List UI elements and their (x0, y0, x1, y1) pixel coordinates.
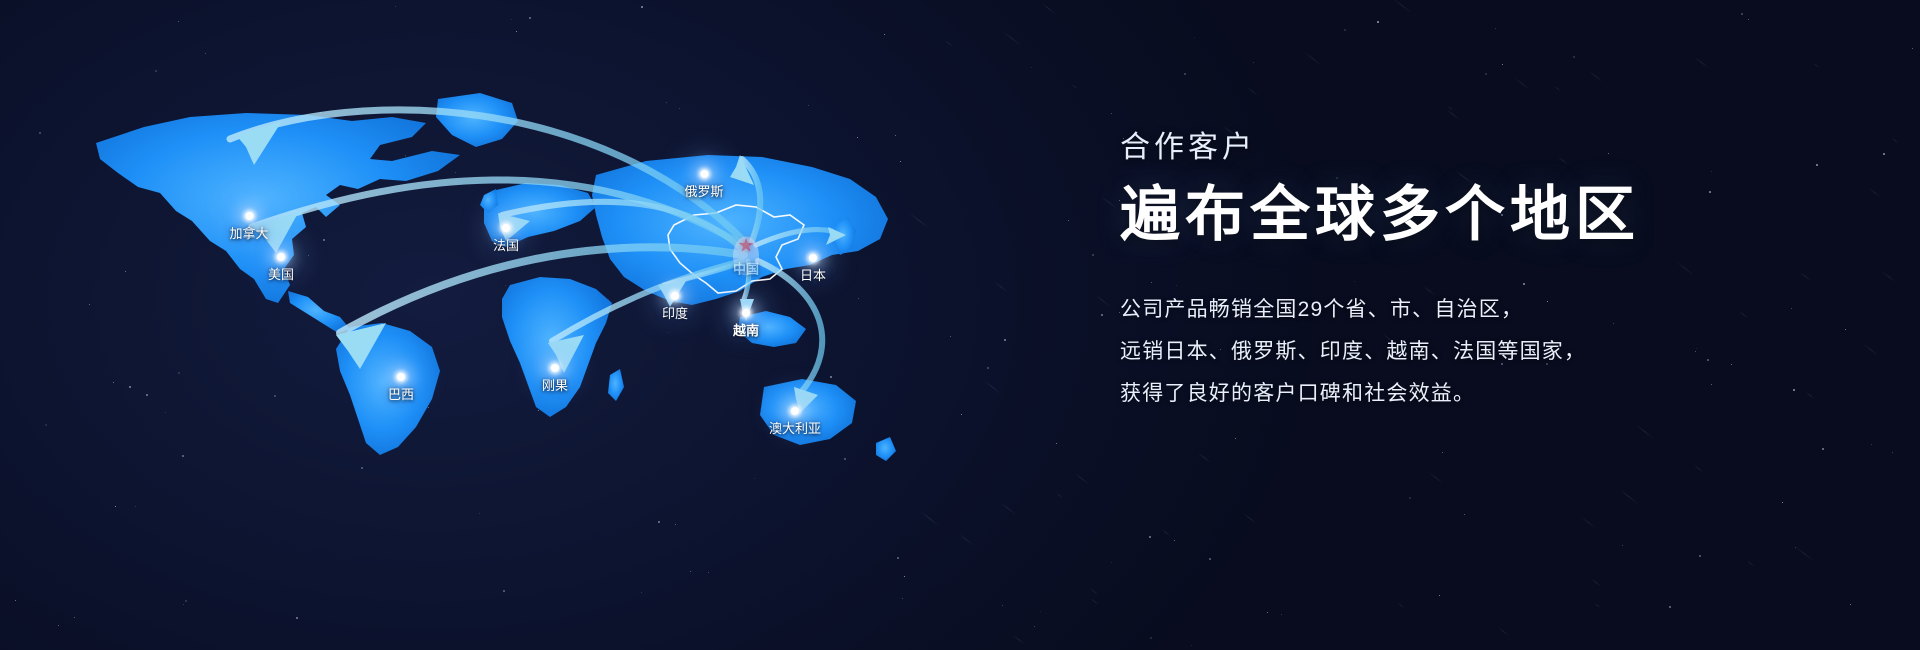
landmass-group (96, 93, 896, 461)
star-speck (1782, 502, 1783, 503)
light-streak (959, 534, 974, 546)
star-speck (15, 600, 16, 601)
star-speck (1495, 28, 1496, 29)
star-speck (74, 617, 75, 618)
light-streak (1794, 546, 1814, 562)
star-speck (1850, 604, 1851, 605)
star-speck (503, 590, 505, 592)
star-speck (1439, 595, 1440, 596)
light-streak (1041, 3, 1055, 14)
star-speck (1892, 452, 1893, 453)
star-speck (1101, 314, 1103, 316)
star-speck (205, 53, 206, 54)
star-speck (1191, 645, 1192, 646)
star-speck (1464, 514, 1465, 515)
star-speck (1149, 536, 1151, 538)
light-streak (984, 380, 1002, 394)
light-streak (1095, 294, 1111, 306)
star-speck (1485, 73, 1487, 75)
star-speck (479, 513, 480, 514)
star-speck (296, 617, 298, 619)
light-streak (1581, 517, 1595, 528)
light-streak (1446, 109, 1459, 120)
star-speck (58, 625, 59, 626)
light-streak (1071, 84, 1077, 89)
world-map-svg (40, 55, 940, 485)
light-streak (1304, 52, 1321, 66)
star-speck (529, 17, 531, 19)
light-streak (1162, 529, 1170, 536)
star-speck (185, 600, 187, 602)
light-streak (1747, 560, 1755, 566)
star-speck (641, 592, 642, 593)
light-streak (920, 511, 939, 526)
star-speck (641, 6, 643, 8)
light-streak (1428, 471, 1444, 483)
light-streak (1594, 603, 1600, 608)
star-speck (135, 506, 136, 507)
star-speck (708, 572, 709, 573)
light-streak (993, 281, 1007, 292)
star-speck (1194, 37, 1195, 38)
star-speck (1068, 220, 1069, 221)
paragraph-line: 公司产品畅销全国29个省、市、自治区， (1120, 289, 1860, 331)
light-streak (1863, 343, 1879, 355)
light-streak (1447, 106, 1453, 111)
banner-headline: 遍布全球多个地区 (1120, 180, 1860, 249)
landmass-new-zealand (876, 437, 896, 461)
star-speck (1031, 67, 1032, 68)
light-streak (1892, 138, 1899, 144)
star-speck (1573, 56, 1575, 58)
light-streak (1589, 71, 1602, 82)
star-speck (1111, 562, 1112, 563)
star-speck (1056, 443, 1057, 444)
light-streak (1868, 187, 1880, 197)
star-speck (658, 521, 660, 523)
star-speck (1150, 637, 1152, 639)
star-speck (1669, 606, 1671, 608)
star-speck (1235, 438, 1236, 439)
light-streak (1498, 627, 1509, 636)
star-speck (1377, 21, 1379, 23)
banner-hero: 加拿大 美国 巴西 刚果 法国 俄罗斯 印度 ★ 中国 (0, 0, 1920, 650)
landmass-australia (760, 379, 856, 445)
light-streak (1243, 513, 1256, 524)
light-streak (1398, 603, 1405, 609)
star-speck (115, 506, 116, 507)
light-streak (1515, 78, 1530, 90)
light-streak (1090, 588, 1098, 595)
star-speck (1184, 73, 1186, 75)
star-speck (1174, 540, 1175, 541)
star-speck (1004, 339, 1006, 341)
star-speck (1442, 452, 1443, 453)
star-speck (395, 6, 396, 7)
light-streak (945, 40, 953, 47)
light-streak (1881, 271, 1895, 282)
star-speck (884, 34, 885, 35)
light-streak (1392, 0, 1412, 13)
star-speck (1267, 612, 1268, 613)
light-streak (1694, 465, 1703, 473)
star-speck (987, 367, 989, 369)
light-streak (1197, 452, 1210, 463)
star-speck (1741, 13, 1743, 15)
star-speck (1871, 444, 1872, 445)
star-speck (1209, 558, 1211, 560)
banner-paragraph: 公司产品畅销全国29个省、市、自治区， 远销日本、俄罗斯、印度、越南、法国等国家… (1120, 289, 1860, 415)
landmass-north-america (96, 113, 460, 303)
star-speck (1409, 497, 1411, 499)
light-streak (1813, 63, 1819, 68)
star-speck (690, 571, 691, 572)
landmass-central-america (288, 291, 350, 333)
light-streak (1012, 634, 1024, 644)
star-speck (950, 336, 951, 337)
star-speck (902, 598, 903, 599)
star-speck (1002, 605, 1003, 606)
star-speck (1699, 555, 1701, 557)
star-speck (511, 19, 512, 20)
light-streak (1591, 578, 1601, 586)
star-speck (1622, 545, 1623, 546)
star-speck (1822, 448, 1824, 450)
star-speck (1795, 547, 1796, 548)
banner-eyebrow: 合作客户 (1120, 130, 1860, 166)
star-speck (897, 557, 899, 559)
star-speck (1344, 29, 1346, 31)
star-speck (675, 524, 676, 525)
star-speck (1281, 614, 1282, 615)
light-streak (1101, 196, 1117, 209)
landmass-madagascar (608, 369, 624, 401)
star-speck (1092, 254, 1094, 256)
star-speck (1111, 113, 1112, 114)
light-streak (1619, 489, 1638, 504)
star-speck (961, 414, 962, 415)
light-streak (1002, 31, 1022, 47)
star-speck (1253, 62, 1254, 63)
star-speck (1040, 611, 1041, 612)
light-streak (1091, 598, 1099, 604)
star-speck (1502, 64, 1503, 65)
world-map: 加拿大 美国 巴西 刚果 法国 俄罗斯 印度 ★ 中国 (40, 55, 940, 485)
light-streak (1694, 56, 1710, 68)
star-speck (183, 604, 184, 605)
paragraph-line: 获得了良好的客户口碑和社会效益。 (1120, 373, 1860, 415)
star-speck (178, 21, 179, 22)
light-streak (1247, 87, 1258, 96)
light-streak (1074, 473, 1088, 484)
paragraph-line: 远销日本、俄罗斯、印度、越南、法国等国家， (1120, 331, 1860, 373)
light-streak (1000, 502, 1016, 515)
landmass-southeast-asia (738, 311, 806, 347)
star-speck (1748, 19, 1749, 20)
star-speck (1883, 153, 1885, 155)
light-streak (1635, 424, 1654, 439)
star-speck (516, 31, 517, 32)
light-streak (1554, 86, 1560, 91)
star-speck (904, 576, 905, 577)
light-streak (1056, 493, 1062, 498)
banner-copy-block: 合作客户 遍布全球多个地区 公司产品畅销全国29个省、市、自治区， 远销日本、俄… (1120, 130, 1860, 415)
star-speck (1912, 48, 1913, 49)
